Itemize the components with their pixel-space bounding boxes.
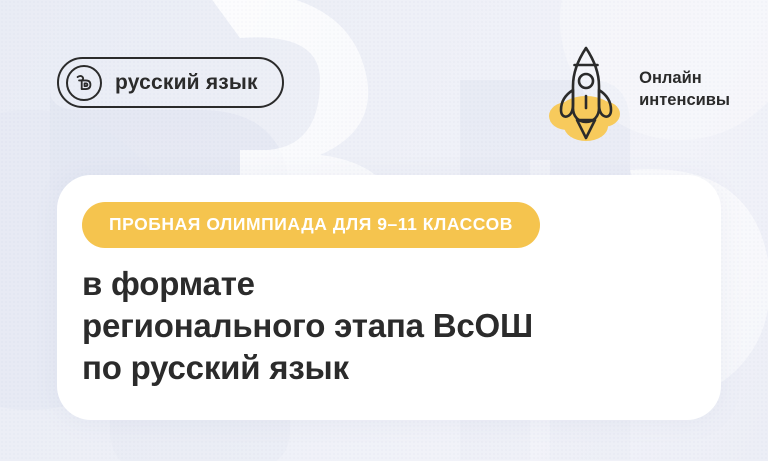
banner-header: русский язык: [0, 0, 768, 160]
headline-line-2: регионального этапа ВсОШ: [82, 305, 705, 347]
headline-line-1: в формате: [82, 263, 705, 305]
headline-line-3: по русский язык: [82, 347, 705, 389]
brand-name-label: русский язык: [115, 72, 258, 93]
rocket-icon: [545, 38, 627, 142]
promo-banner: русский язык: [0, 0, 768, 461]
online-intensives-label: Онлайн интенсивы: [639, 68, 730, 112]
hard-sign-letter-icon: [66, 65, 102, 101]
brand-logo-pill[interactable]: русский язык: [57, 57, 284, 108]
online-intensives-line2: интенсивы: [639, 91, 730, 109]
content-card: ПРОБНАЯ ОЛИМПИАДА ДЛЯ 9–11 КЛАССОВ в фор…: [57, 175, 721, 420]
page-title: в формате регионального этапа ВсОШ по ру…: [82, 263, 705, 389]
online-intensives-block[interactable]: Онлайн интенсивы: [545, 38, 730, 142]
online-intensives-line1: Онлайн: [639, 69, 702, 87]
status-badge: ПРОБНАЯ ОЛИМПИАДА ДЛЯ 9–11 КЛАССОВ: [82, 202, 540, 248]
